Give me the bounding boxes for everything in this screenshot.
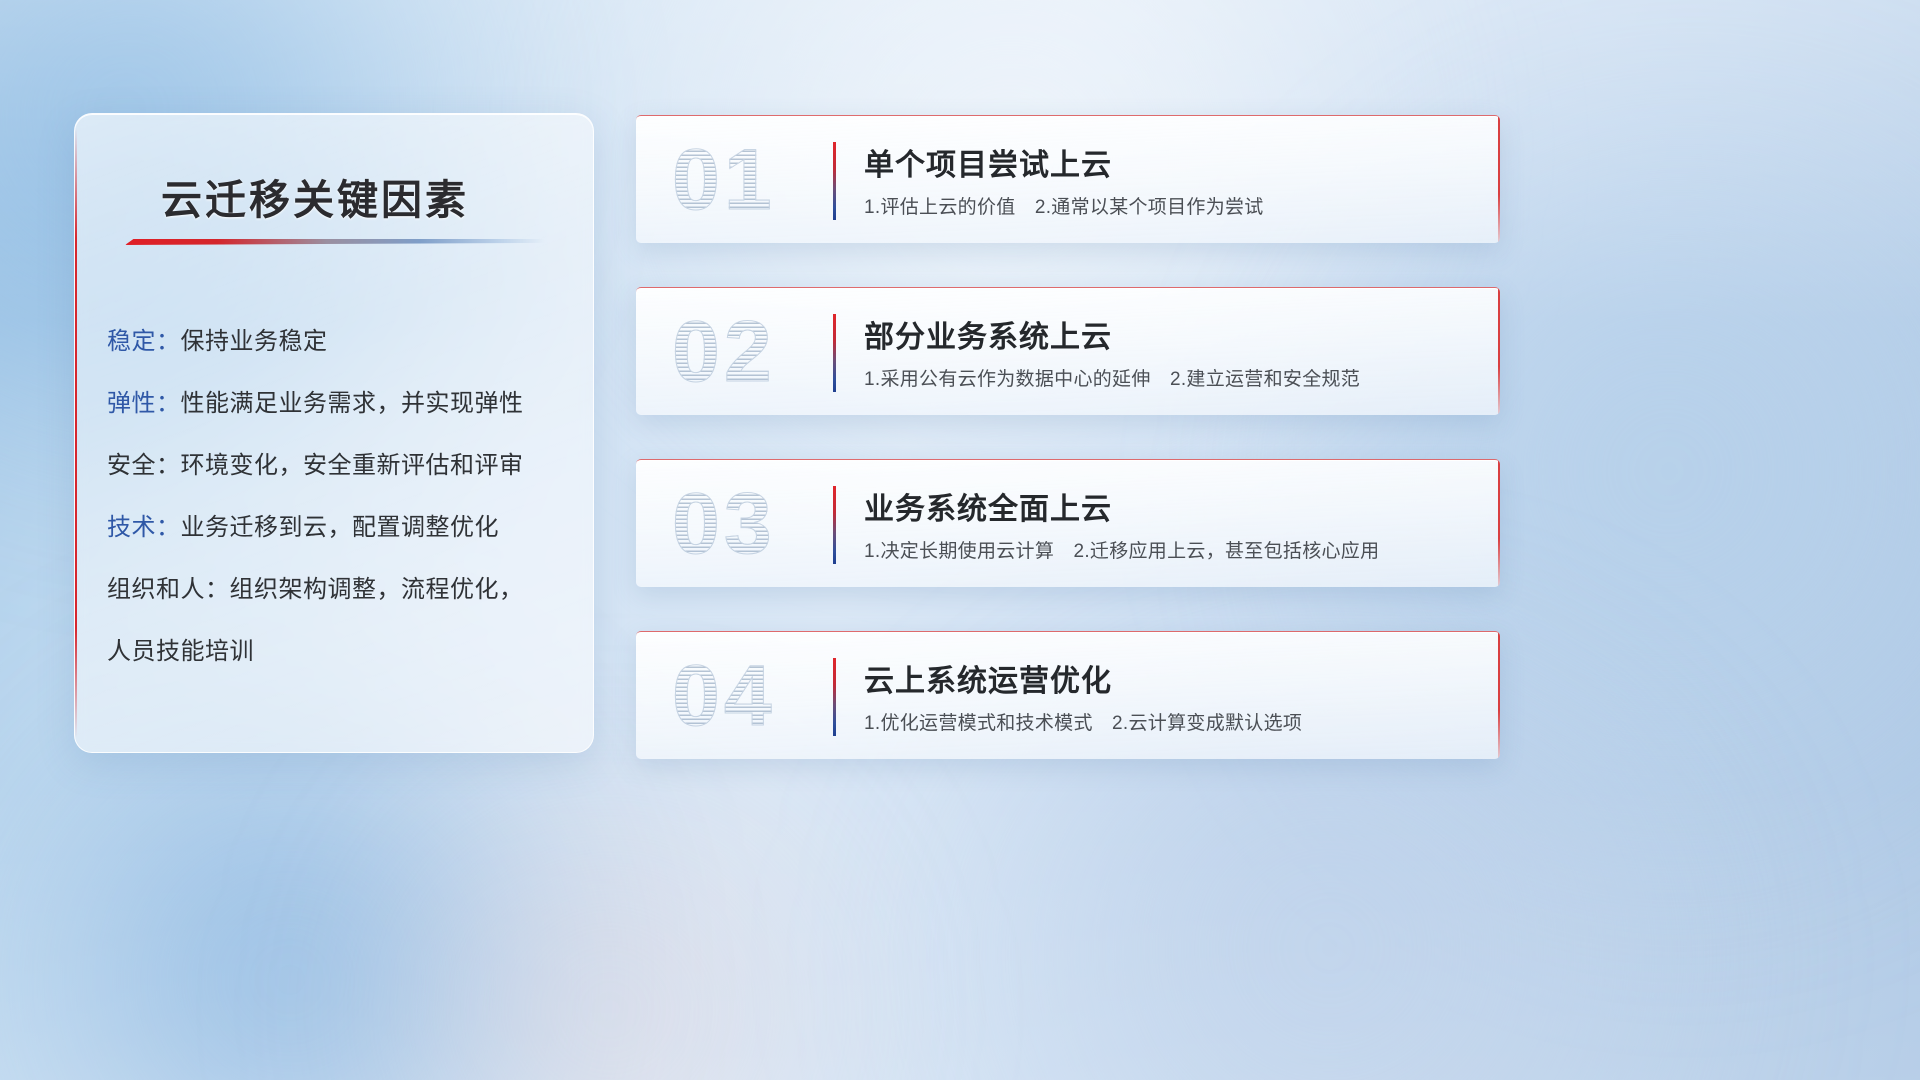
key-factor-item: 人员技能培训 <box>107 621 571 683</box>
step-number: 02 <box>672 304 776 400</box>
step-subtitle: 1.评估上云的价值 2.通常以某个项目作为尝试 <box>864 192 1264 219</box>
step-number: 03 <box>672 476 776 572</box>
step-card-02[interactable]: 02部分业务系统上云1.采用公有云作为数据中心的延伸 2.建立运营和安全规范 <box>636 287 1500 415</box>
key-factor-item: 技术：业务迁移到云，配置调整优化 <box>107 497 571 559</box>
key-factor-text: 业务迁移到云，配置调整优化 <box>181 514 500 541</box>
key-factor-label: 安全： <box>107 452 181 479</box>
key-factor-item: 安全：环境变化，安全重新评估和评审 <box>107 435 571 497</box>
step-card-01[interactable]: 01单个项目尝试上云1.评估上云的价值 2.通常以某个项目作为尝试 <box>636 115 1500 243</box>
step-title: 业务系统全面上云 <box>864 484 1112 528</box>
page-title: 云迁移关键因素 <box>161 166 469 226</box>
step-number: 04 <box>672 648 776 744</box>
key-factor-label: 组织和人： <box>107 576 230 603</box>
step-title: 部分业务系统上云 <box>864 312 1112 356</box>
step-card-04[interactable]: 04云上系统运营优化1.优化运营模式和技术模式 2.云计算变成默认选项 <box>636 631 1500 759</box>
step-divider-bar <box>833 658 836 736</box>
key-factor-label: 稳定： <box>107 328 181 355</box>
step-number: 01 <box>672 132 776 228</box>
key-factor-label: 弹性： <box>107 390 181 417</box>
key-factor-text: 人员技能培训 <box>107 638 254 665</box>
key-factor-text: 保持业务稳定 <box>181 328 328 355</box>
step-title: 单个项目尝试上云 <box>864 140 1112 184</box>
key-factor-item: 组织和人：组织架构调整，流程优化， <box>107 559 571 621</box>
key-factor-item: 稳定：保持业务稳定 <box>107 311 571 373</box>
step-subtitle: 1.采用公有云作为数据中心的延伸 2.建立运营和安全规范 <box>864 364 1360 391</box>
key-factor-text: 环境变化，安全重新评估和评审 <box>181 452 524 479</box>
step-divider-bar <box>833 142 836 220</box>
step-card-03[interactable]: 03业务系统全面上云1.决定长期使用云计算 2.迁移应用上云，甚至包括核心应用 <box>636 459 1500 587</box>
key-factor-item: 弹性：性能满足业务需求，并实现弹性 <box>107 373 571 435</box>
key-factor-label: 技术： <box>107 514 181 541</box>
key-factors-list: 稳定：保持业务稳定弹性：性能满足业务需求，并实现弹性安全：环境变化，安全重新评估… <box>107 311 571 683</box>
step-subtitle: 1.优化运营模式和技术模式 2.云计算变成默认选项 <box>864 708 1302 735</box>
step-subtitle: 1.决定长期使用云计算 2.迁移应用上云，甚至包括核心应用 <box>864 536 1379 563</box>
title-underline-accent <box>125 239 545 245</box>
step-divider-bar <box>833 314 836 392</box>
key-factor-text: 性能满足业务需求，并实现弹性 <box>181 390 524 417</box>
step-divider-bar <box>833 486 836 564</box>
step-title: 云上系统运营优化 <box>864 656 1112 700</box>
key-factors-panel: 云迁移关键因素 稳定：保持业务稳定弹性：性能满足业务需求，并实现弹性安全：环境变… <box>74 113 594 753</box>
key-factor-text: 组织架构调整，流程优化， <box>230 576 524 603</box>
